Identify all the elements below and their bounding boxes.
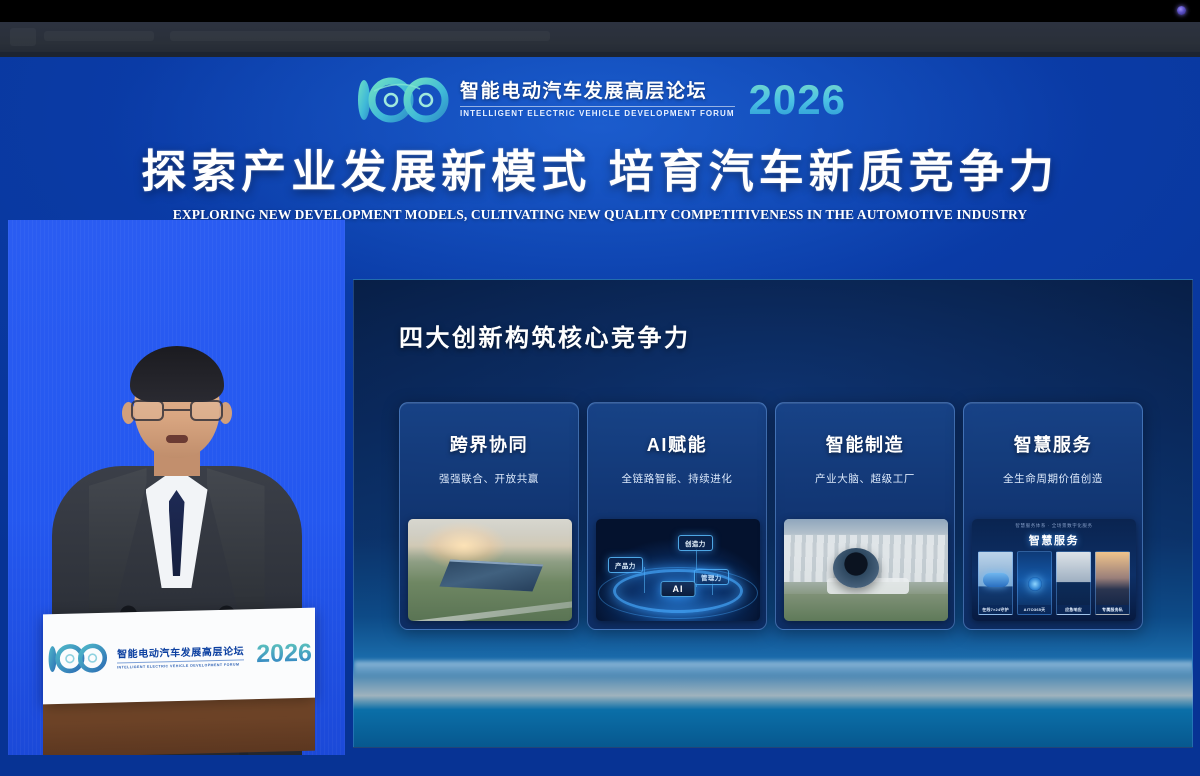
top-black-bar — [0, 0, 1200, 22]
event-header: 智能电动汽车发展高层论坛 INTELLIGENT ELECTRIC VEHICL… — [0, 57, 1200, 219]
slide-card-smart-manufacturing[interactable]: 智能制造 产业大脑、超级工厂 — [775, 402, 955, 630]
factory-building — [440, 559, 544, 591]
chrome-placeholder-addressbar — [170, 31, 550, 41]
event-main-title: 探索产业发展新模式 培育汽车新质竞争力 — [141, 135, 1059, 200]
card-subtitle: 全生命周期价值创造 — [1003, 471, 1103, 486]
factory-greenery — [784, 594, 948, 621]
podium-logo-en: INTELLIGENT ELECTRIC VEHICLE DEVELOPMENT… — [117, 662, 244, 669]
slide-title: 四大创新构筑核心竞争力 — [399, 318, 691, 353]
presentation-slide: 四大创新构筑核心竞争力 跨界协同 强强联合、开放共赢 AI赋能 全链路智能、持续… — [353, 279, 1193, 748]
card-title: AI赋能 — [647, 431, 707, 457]
card-title: 跨界协同 — [450, 431, 528, 457]
service-tile-row: 在线7×24守护 AITO365天 应急响应 专属服务私 — [978, 551, 1130, 615]
slide-card-row: 跨界协同 强强联合、开放共赢 AI赋能 全链路智能、持续进化 — [399, 402, 1149, 630]
cloud-icon — [983, 573, 1009, 587]
card-title: 智能制造 — [826, 431, 904, 457]
service-tile-2-caption: AITO365天 — [1018, 605, 1051, 614]
forum-logo-text: 智能电动汽车发展高层论坛 INTELLIGENT ELECTRIC VEHICL… — [460, 81, 735, 119]
service-tile-4: 专属服务私 — [1095, 551, 1130, 615]
card-media-ai-hologram: 产品力 创造力 管理力 AI — [596, 519, 760, 621]
slide-card-cross-industry[interactable]: 跨界协同 强强联合、开放共赢 — [399, 402, 579, 630]
speaker-mouth — [166, 435, 188, 443]
glasses-bridge — [164, 409, 190, 411]
forum-logo: 智能电动汽车发展高层论坛 INTELLIGENT ELECTRIC VEHICL… — [354, 77, 846, 123]
forum-year: 2026 — [749, 79, 846, 121]
chrome-placeholder-tab — [10, 28, 36, 46]
podium-logo-cn: 智能电动汽车发展高层论坛 — [117, 642, 244, 660]
card-media-aerial-factory-sunrise — [408, 519, 572, 621]
podium-logo-mark-icon — [46, 643, 108, 675]
ai-core-label: AI — [661, 581, 696, 597]
forum-logo-mark-icon — [354, 77, 450, 123]
speaker-hair — [130, 346, 224, 402]
podium-logo-text: 智能电动汽车发展高层论坛 INTELLIGENT ELECTRIC VEHICL… — [117, 642, 244, 669]
recording-dot-icon — [1177, 6, 1186, 15]
service-tile-3: 应急响应 — [1056, 551, 1091, 615]
service-heading: 智慧服务 — [972, 532, 1136, 548]
city-skyline — [784, 519, 948, 534]
service-tile-1-caption: 在线7×24守护 — [979, 605, 1012, 614]
card-subtitle: 产业大脑、超级工厂 — [815, 471, 915, 486]
slide-horizon-glow — [354, 661, 1193, 675]
card-subtitle: 强强联合、开放共赢 — [439, 471, 539, 486]
forum-logo-rule — [460, 106, 735, 107]
card-title: 智慧服务 — [1014, 431, 1092, 457]
forum-logo-en: INTELLIGENT ELECTRIC VEHICLE DEVELOPMENT… — [460, 110, 735, 119]
livestream-stage: 智能电动汽车发展高层论坛 INTELLIGENT ELECTRIC VEHICL… — [0, 57, 1200, 776]
card-media-smart-service-dashboard: 智慧服务体系 · 全场景数字化服务 智慧服务 在线7×24守护 AITO365天 — [972, 519, 1136, 621]
service-tile-3-caption: 应急响应 — [1057, 605, 1090, 614]
service-top-note: 智慧服务体系 · 全场景数字化服务 — [972, 523, 1136, 529]
service-tile-2: AITO365天 — [1017, 551, 1052, 615]
speaker-glasses-icon — [131, 400, 223, 422]
slide-card-smart-service[interactable]: 智慧服务 全生命周期价值创造 智慧服务体系 · 全场景数字化服务 智慧服务 在线… — [963, 402, 1143, 630]
circular-building — [833, 548, 879, 588]
factory-road — [408, 599, 572, 621]
slide-card-ai-empowerment[interactable]: AI赋能 全链路智能、持续进化 产品力 创造力 管理力 AI — [587, 402, 767, 630]
application-frame: 智能电动汽车发展高层论坛 INTELLIGENT ELECTRIC VEHICL… — [0, 0, 1200, 776]
forum-logo-cn: 智能电动汽车发展高层论坛 — [460, 81, 735, 103]
podium-sign: 智能电动汽车发展高层论坛 INTELLIGENT ELECTRIC VEHICL… — [43, 608, 315, 705]
speaker-video-panel: 智能电动汽车发展高层论坛 INTELLIGENT ELECTRIC VEHICL… — [8, 220, 345, 755]
card-media-aerial-super-factory — [784, 519, 948, 621]
glasses-lens-left — [131, 400, 164, 421]
sunrise-haze — [408, 519, 572, 556]
card-subtitle: 全链路智能、持续进化 — [622, 471, 733, 486]
chrome-placeholder-label — [44, 31, 154, 41]
wifi-icon — [1028, 577, 1042, 591]
service-tile-4-caption: 专属服务私 — [1096, 605, 1129, 614]
service-tile-1: 在线7×24守护 — [978, 551, 1013, 615]
glasses-lens-right — [190, 400, 223, 421]
ai-chip-creative-power: 创造力 — [678, 535, 713, 551]
podium-year: 2026 — [256, 640, 312, 666]
